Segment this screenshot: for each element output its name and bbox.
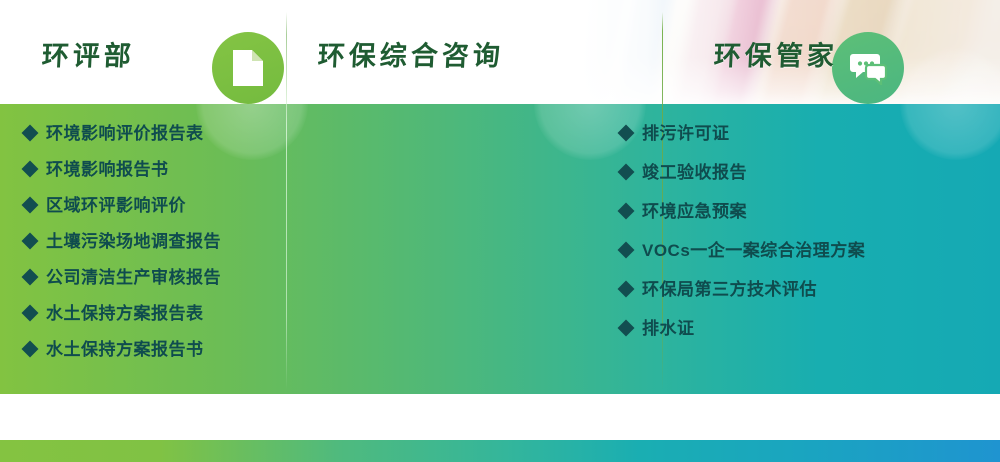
list-item[interactable]: 水土保持方案报告书 [24,340,286,359]
diamond-bullet-icon [618,281,635,298]
diamond-bullet-icon [22,233,39,250]
document-icon [231,48,265,88]
diamond-bullet-icon [22,305,39,322]
bottom-color-bar [0,440,1000,462]
diamond-bullet-icon [22,341,39,358]
bottom-white-gap [0,394,1000,440]
diamond-bullet-icon [618,125,635,142]
diamond-bullet-icon [618,320,635,337]
diamond-bullet-icon [22,161,39,178]
list-item[interactable]: 环境影响评价报告表 [24,124,286,143]
diamond-bullet-icon [618,242,635,259]
infographic-banner: 环评部 环境影响评价报告表 环境影响报告书 区域环评影响评价 土壤污染场地调查报… [0,0,1000,462]
list-item[interactable]: 土壤污染场地调查报告 [24,232,286,251]
list-item[interactable]: 公司清洁生产审核报告 [24,268,286,287]
diamond-bullet-icon [22,125,39,142]
list-item[interactable]: 区域环评影响评价 [24,196,286,215]
document-icon-badge[interactable] [212,32,284,104]
column-huanbao-zonghe-zixun: 环保综合咨询 排污许可证 竣工验收报告 环境应急预案 VOCs一企一案综合治理方… [286,0,662,394]
column-huanping-bu: 环评部 环境影响评价报告表 环境影响报告书 区域环评影响评价 土壤污染场地调查报… [0,0,286,394]
diamond-bullet-icon [22,269,39,286]
column-title-3: 环保管家 [713,34,839,73]
diamond-bullet-icon [618,164,635,181]
list-item[interactable]: 环境影响报告书 [24,160,286,179]
list-item[interactable]: 水土保持方案报告表 [24,304,286,323]
column-huanbao-guanjia: 环保管家 排污口规范化申报 环境检测 固体废物网上申请 排污单位环境管理台账及排… [662,0,1000,394]
column-title-2: 环保综合咨询 [317,34,505,73]
diamond-bullet-icon [22,197,39,214]
column-title-1: 环评部 [41,34,136,73]
service-list-1: 环境影响评价报告表 环境影响报告书 区域环评影响评价 土壤污染场地调查报告 公司… [24,124,286,376]
diamond-bullet-icon [618,203,635,220]
